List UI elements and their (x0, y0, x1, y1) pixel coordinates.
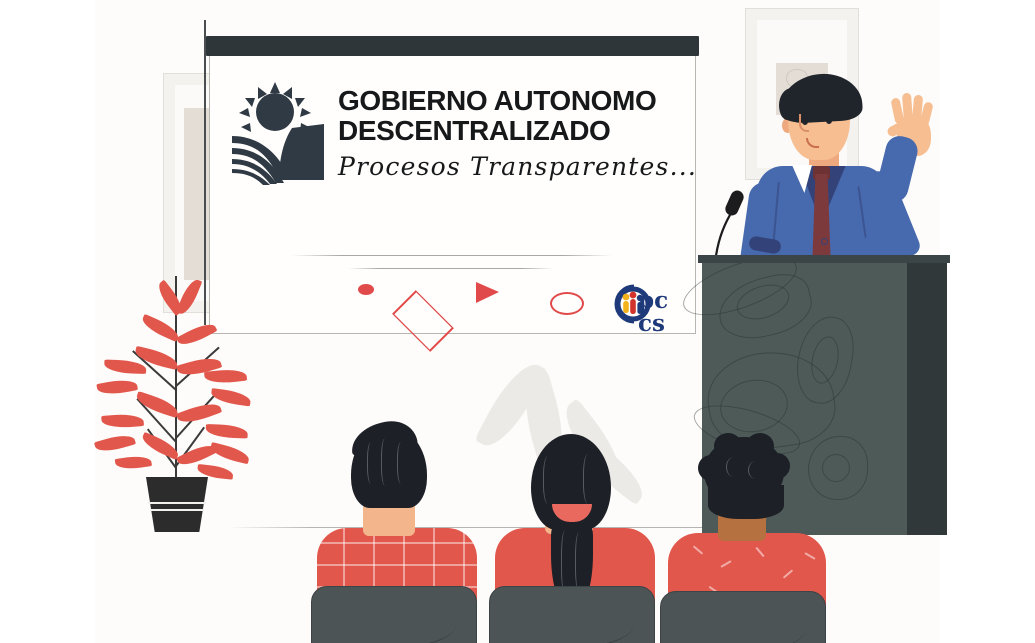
presenter (735, 62, 950, 267)
plant-leaf (94, 432, 136, 456)
plant-leaf (96, 377, 138, 397)
screen-surface: GOBIERNO AUTONOMO DESCENTRALIZADO Proces… (209, 56, 696, 334)
slide-title: GOBIERNO AUTONOMO DESCENTRALIZADO (338, 86, 683, 146)
triangle-shape (476, 282, 499, 303)
slide-title-line-1: GOBIERNO AUTONOMO (338, 86, 683, 116)
audience-chair[interactable] (660, 591, 826, 643)
lectern-top-surface (698, 255, 950, 263)
plant-leaf (176, 319, 217, 349)
svg-text:cs: cs (638, 310, 665, 337)
audience-member-center (483, 430, 668, 643)
potted-plant (100, 270, 255, 530)
screen-top-bar (206, 36, 699, 56)
audience-chair[interactable] (489, 586, 655, 643)
presentation-illustration: GOBIERNO AUTONOMO DESCENTRALIZADO Proces… (0, 0, 1035, 643)
plant-leaf (210, 388, 251, 406)
cpccs-logo: pc cs (605, 281, 677, 337)
pot-band (148, 502, 206, 504)
slide-title-line-2: DESCENTRALIZADO (338, 116, 683, 146)
plant-leaf (104, 360, 146, 374)
presenter-eye (826, 117, 832, 124)
slide-divider-top (292, 255, 612, 256)
sun-over-hill-icon (232, 80, 328, 185)
projector-screen: GOBIERNO AUTONOMO DESCENTRALIZADO Proces… (206, 36, 699, 336)
plant-leaf (176, 399, 222, 427)
ellipse-outline-shape (550, 292, 584, 315)
slide-divider-bottom (348, 268, 553, 269)
presenter-nose (799, 114, 809, 132)
audience-chair[interactable] (311, 586, 477, 643)
slide-tagline: Procesos Transparentes... (338, 152, 688, 181)
plant-pot (146, 477, 208, 532)
filled-dot-shape (358, 284, 374, 295)
pot-band (150, 509, 204, 511)
audience-hair-curl (746, 433, 774, 459)
audience-hair-curl (764, 453, 790, 479)
plant-leaf (206, 424, 248, 438)
audience-hair-curl (698, 455, 724, 481)
lectern-side-panel (907, 260, 947, 535)
audience-member-right (652, 433, 837, 643)
audience-hair-nape (708, 485, 784, 519)
audience-member-left (305, 420, 490, 643)
audience-hair-curl (714, 433, 742, 459)
presenter-jacket-button (821, 238, 828, 245)
plant-leaf (101, 413, 144, 429)
plant-leaf (115, 454, 152, 471)
